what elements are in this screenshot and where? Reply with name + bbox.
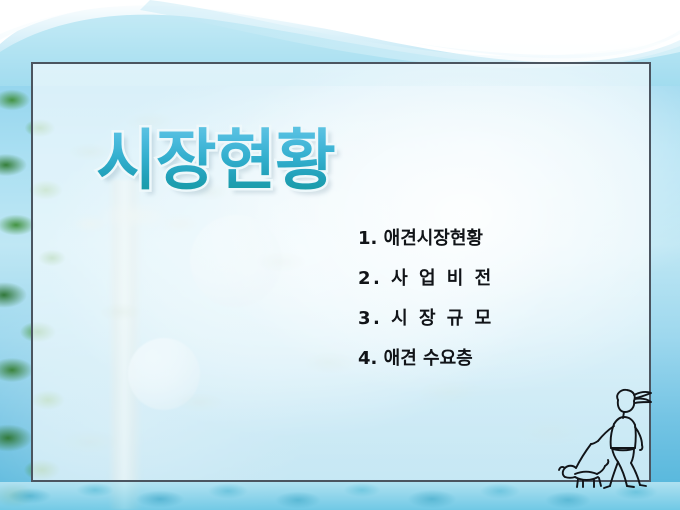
agenda-item-3[interactable]: 3. 시 장 규 모: [358, 306, 608, 346]
presentation-slide: 시장현황 시장현황 시장현황 1. 애견시장현황 2. 사 업 비 전 3. 시…: [0, 0, 680, 510]
agenda-item-2[interactable]: 2. 사 업 비 전: [358, 266, 608, 306]
agenda-list: 1. 애견시장현황 2. 사 업 비 전 3. 시 장 규 모 4. 애견 수요…: [358, 226, 608, 386]
person-walking-dog-graphic: [556, 382, 666, 492]
slide-title: 시장현황: [96, 128, 335, 194]
agenda-item-4[interactable]: 4. 애견 수요층: [358, 346, 608, 386]
agenda-item-1[interactable]: 1. 애견시장현황: [358, 226, 608, 266]
slide-title-text: 시장현황: [96, 122, 335, 199]
person-walking-dog-icon: [556, 382, 666, 492]
